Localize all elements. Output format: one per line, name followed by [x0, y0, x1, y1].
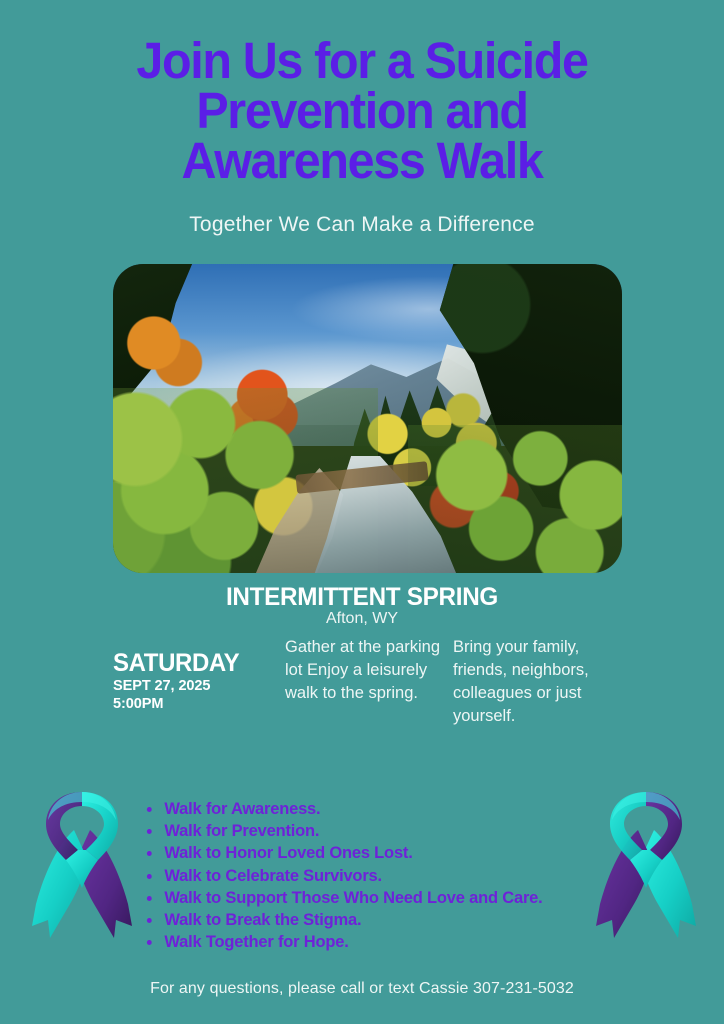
list-item: Walk to Support Those Who Need Love and …	[143, 887, 609, 909]
event-date: SEPT 27, 2025	[113, 677, 280, 695]
awareness-ribbon-icon-left	[28, 786, 136, 954]
title-line-1: Join Us for a Suicide	[18, 36, 706, 86]
title-line-2: Prevention and	[18, 86, 706, 136]
invitation-text: Bring your family, friends, neighbors, c…	[453, 636, 622, 728]
photo-orange-slope	[113, 313, 215, 387]
location-name: INTERMITTENT SPRING	[11, 583, 713, 612]
reasons-list: Walk for Awareness. Walk for Prevention.…	[143, 798, 623, 953]
scenery-photo	[113, 264, 622, 573]
event-day: SATURDAY	[113, 650, 278, 677]
list-item: Walk to Break the Stigma.	[143, 909, 609, 931]
scenery-photo-artwork	[113, 264, 622, 573]
list-item: Walk Together for Hope.	[143, 931, 609, 953]
location-city: Afton, WY	[0, 610, 724, 628]
instructions-block: Gather at the parking lot Enjoy a leisur…	[285, 636, 453, 705]
list-item: Walk to Celebrate Survivors.	[143, 865, 609, 887]
event-time: 5:00PM	[113, 695, 280, 713]
invitation-block: Bring your family, friends, neighbors, c…	[453, 636, 622, 728]
contact-footer: For any questions, please call or text C…	[0, 980, 724, 998]
poster-canvas: Join Us for a Suicide Prevention and Awa…	[0, 0, 724, 1024]
subtitle: Together We Can Make a Difference	[0, 213, 724, 237]
list-item: Walk for Awareness.	[143, 798, 609, 820]
when-block: SATURDAY SEPT 27, 2025 5:00PM	[113, 636, 285, 713]
title-line-3: Awareness Walk	[18, 136, 706, 186]
details-row: SATURDAY SEPT 27, 2025 5:00PM Gather at …	[113, 636, 622, 728]
page-title: Join Us for a Suicide Prevention and Awa…	[0, 36, 724, 186]
instructions-text: Gather at the parking lot Enjoy a leisur…	[285, 636, 453, 705]
list-item: Walk for Prevention.	[143, 820, 609, 842]
list-item: Walk to Honor Loved Ones Lost.	[143, 842, 609, 864]
